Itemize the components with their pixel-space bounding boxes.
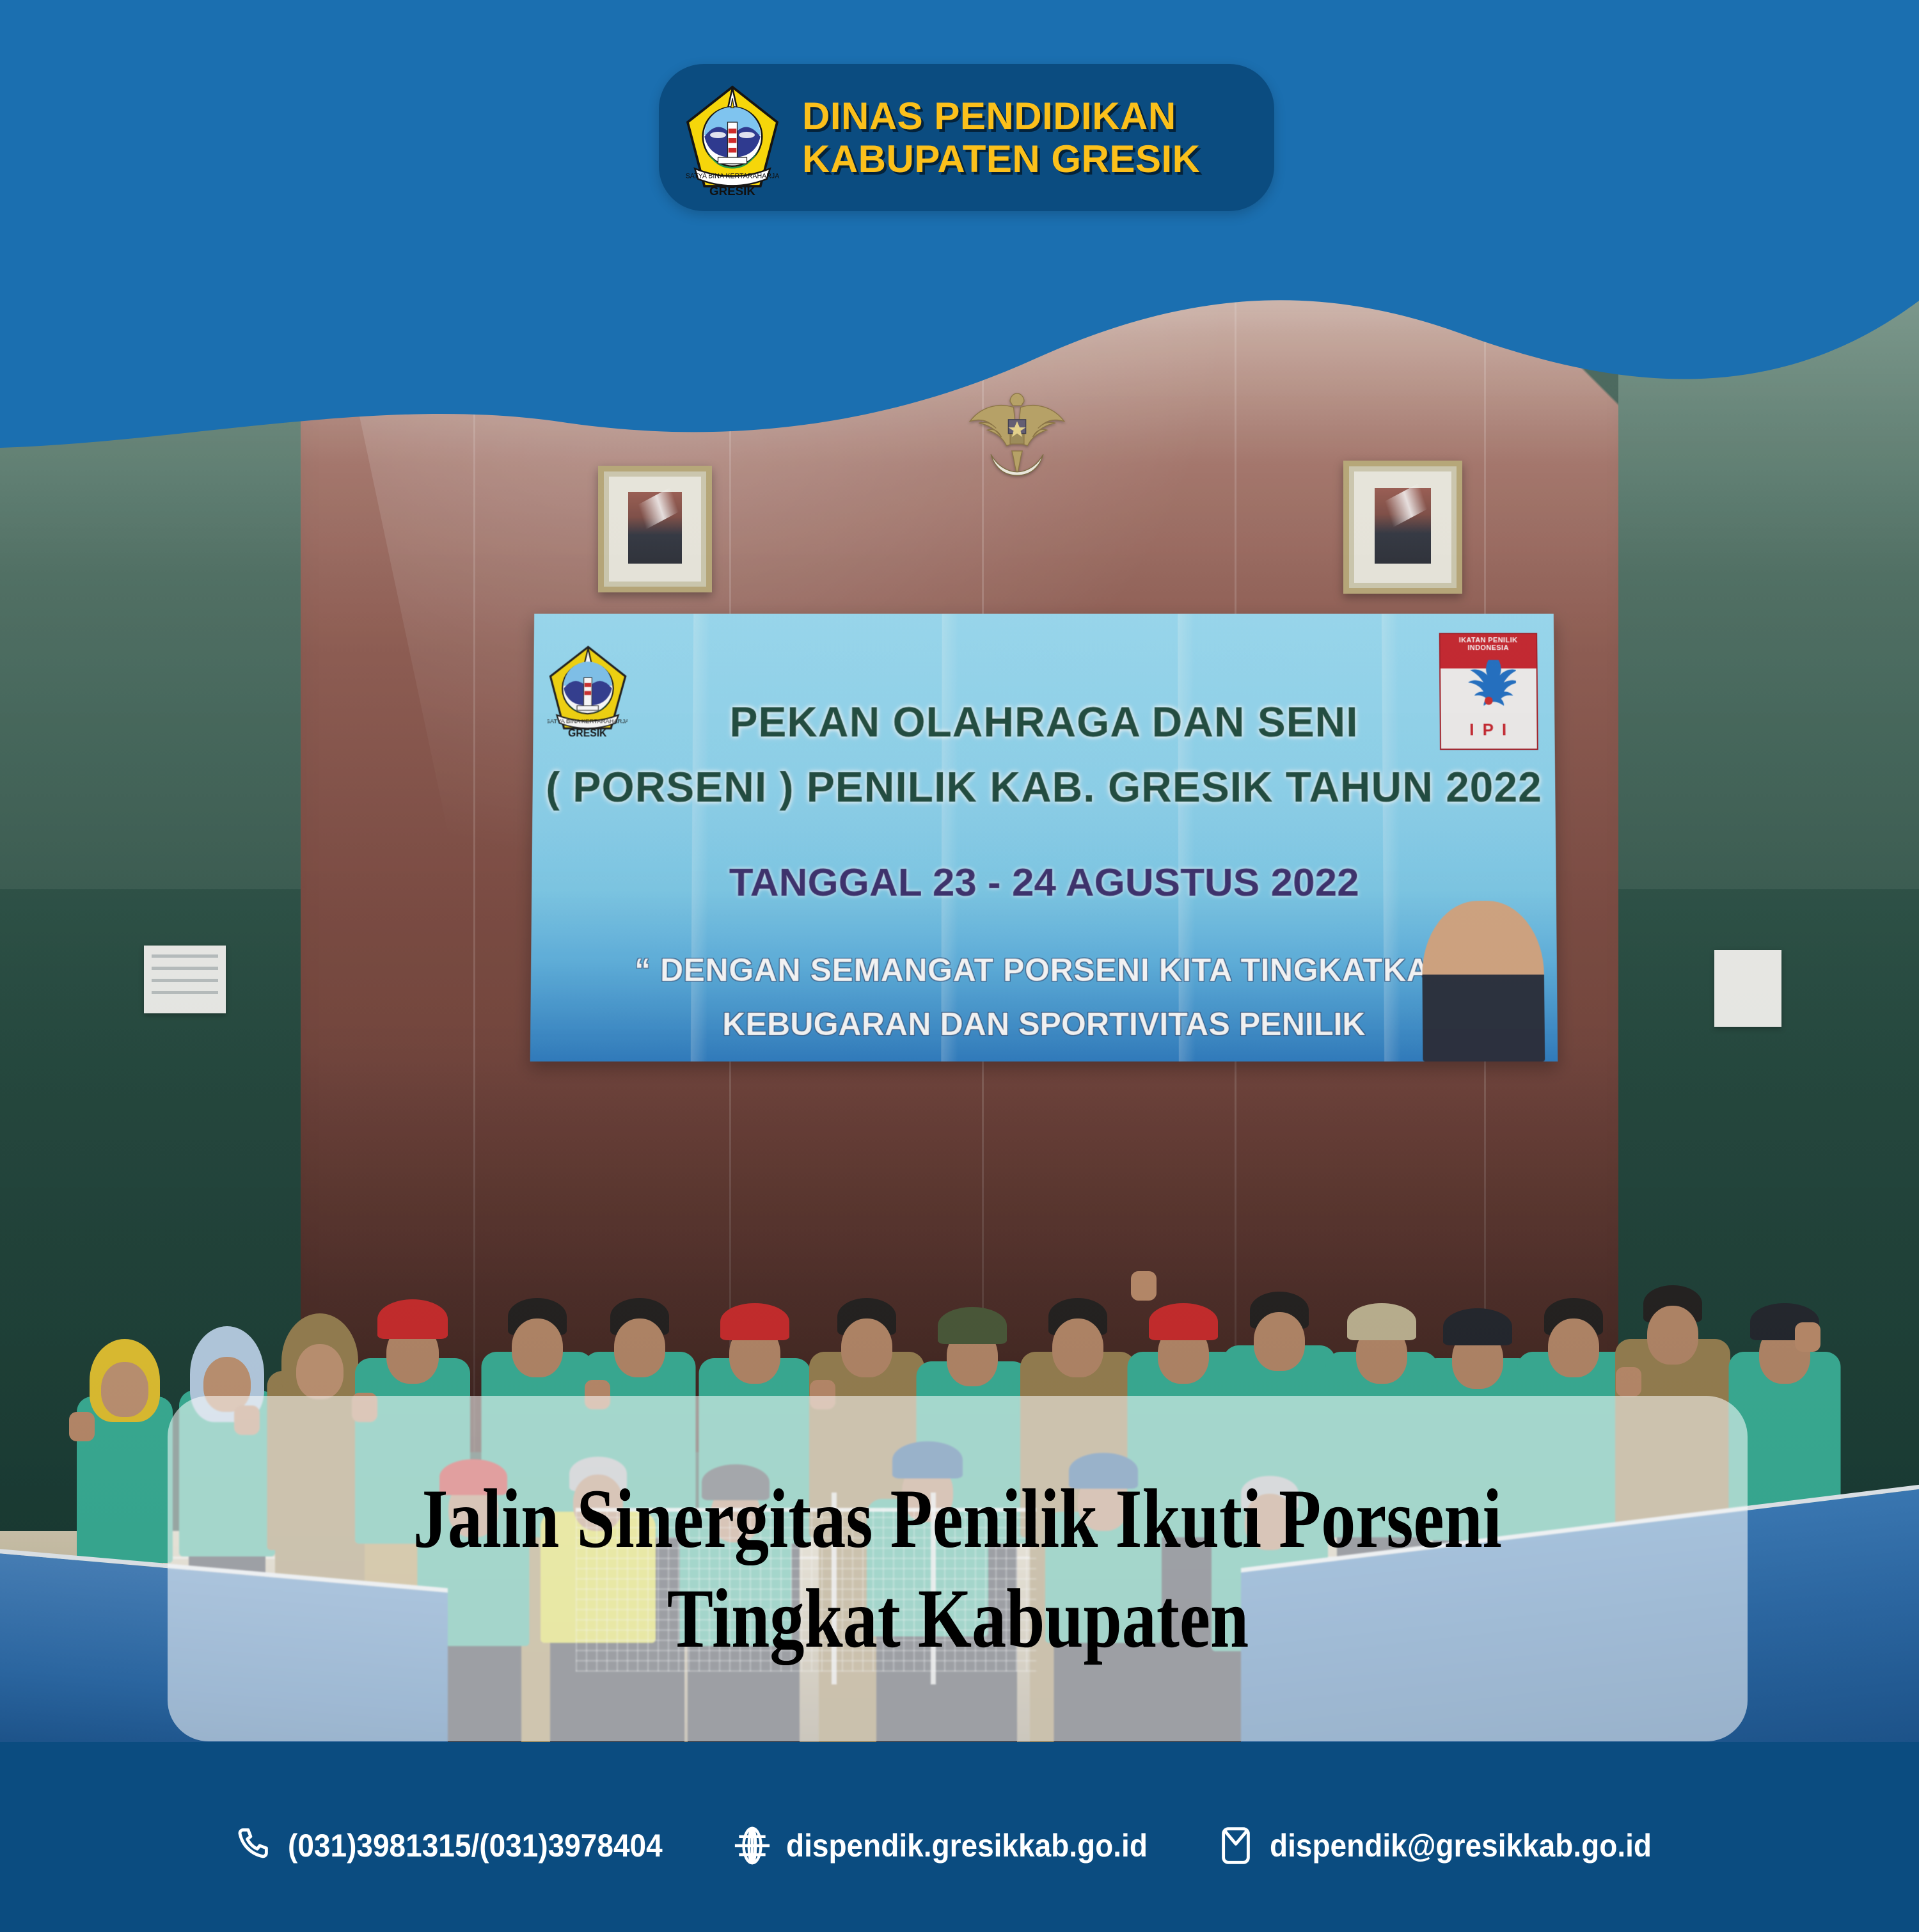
article-title-line-1: Jalin Sinergitas Penilik Ikuti Porseni <box>413 1469 1502 1569</box>
article-title-card: Jalin Sinergitas Penilik Ikuti Porseni T… <box>168 1396 1748 1741</box>
banner-line-1: PEKAN OLAHRAGA DAN SENI <box>533 698 1554 747</box>
footer-website-item[interactable]: dispendik.gresikkab.go.id <box>732 1826 1179 1865</box>
banner-line-2: ( PORSENI ) PENILIK KAB. GRESIK TAHUN 20… <box>532 763 1555 811</box>
globe-icon <box>732 1826 772 1865</box>
footer-website-text: dispendik.gresikkab.go.id <box>786 1827 1148 1864</box>
garuda-pancasila-icon <box>963 386 1071 482</box>
footer-email-item[interactable]: dispendik@gresikkab.go.id <box>1216 1826 1685 1865</box>
framed-president-portrait-icon <box>598 466 712 592</box>
svg-text:GRESIK: GRESIK <box>709 184 755 198</box>
header-title-line-2: KABUPATEN GRESIK <box>802 138 1200 180</box>
header-title-line-1: DINAS PENDIDIKAN <box>802 95 1200 138</box>
ipi-logo-top-text: IKATAN PENILIK INDONESIA <box>1441 637 1536 652</box>
footer-email-text: dispendik@gresikkab.go.id <box>1270 1827 1652 1864</box>
framed-vice-president-portrait-icon <box>1343 461 1462 594</box>
phone-icon <box>234 1826 274 1865</box>
banner-line-4: “ DENGAN SEMANGAT PORSENI KITA TINGKATKA… <box>531 951 1557 988</box>
contact-footer: (031)3981315/(031)3978404 dispendik.gres… <box>0 1742 1919 1932</box>
svg-text:SATYA BINA KERTARAHARJA: SATYA BINA KERTARAHARJA <box>686 173 780 180</box>
envelope-icon <box>1216 1826 1256 1865</box>
article-title-line-2: Tingkat Kabupaten <box>667 1569 1248 1668</box>
gresik-regency-crest-icon: SATYA BINA KERTARAHARJA GRESIK <box>684 84 780 191</box>
footer-phone-text: (031)3981315/(031)3978404 <box>288 1827 663 1864</box>
header-brand-pill: SATYA BINA KERTARAHARJA GRESIK DINAS PEN… <box>659 64 1274 211</box>
header-title-block: DINAS PENDIDIKAN KABUPATEN GRESIK <box>802 95 1200 180</box>
wall-corner-right <box>1453 274 1645 421</box>
footer-phone-item[interactable]: (031)3981315/(031)3978404 <box>234 1826 695 1865</box>
banner-line-3: TANGGAL 23 - 24 AGUSTUS 2022 <box>532 860 1556 905</box>
poster-canvas: SATYA BINA KERTARAHARJA GRESIK IKATAN PE… <box>0 0 1919 1932</box>
